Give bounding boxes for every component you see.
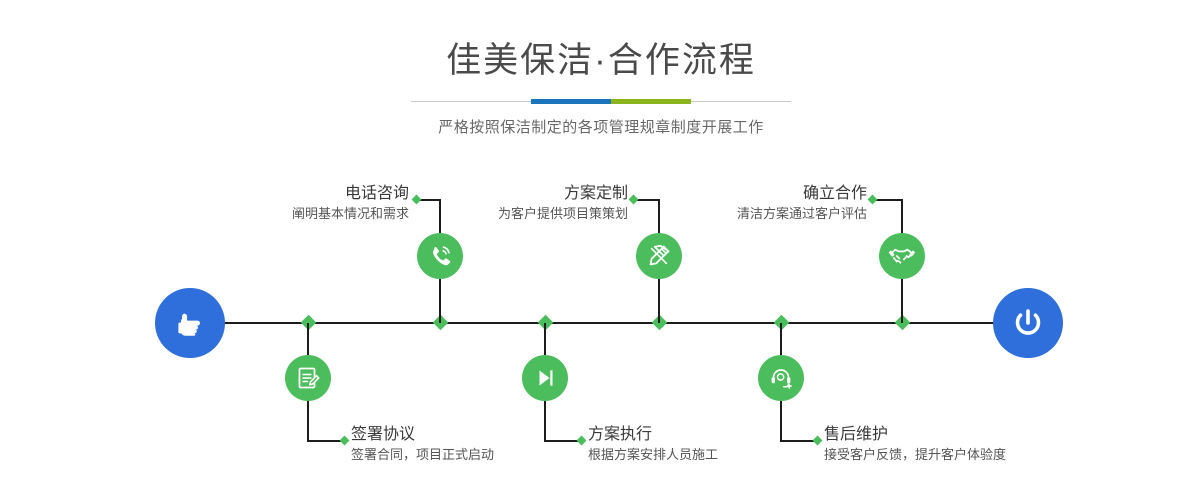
step-label-5: 售后维护 接受客户反馈，提升客户体验度 (824, 424, 1114, 465)
connector-vline-2-upper (307, 323, 309, 355)
connector-vline-6-upper (901, 199, 903, 233)
page-title: 佳美保洁·合作流程 (0, 0, 1202, 82)
connector-dot-6 (868, 195, 878, 205)
pencil-ruler-icon (645, 242, 673, 270)
step-desc-6: 清洁方案通过客户评估 (600, 204, 867, 224)
handshake-icon (888, 242, 916, 270)
timeline: 电话咨询 阐明基本情况和需求 签署协议 签署合同，项目正式启动 (0, 155, 1202, 502)
step-title-3: 方案定制 (356, 183, 628, 204)
connector-vline-5-upper (780, 323, 782, 355)
step-title-6: 确立合作 (600, 183, 867, 204)
connector-vline-5-lower (780, 401, 782, 441)
step-node-4[interactable] (522, 355, 568, 401)
step-label-4: 方案执行 根据方案安排人员施工 (588, 424, 848, 465)
step-node-2[interactable] (285, 355, 331, 401)
step-node-3[interactable] (636, 233, 682, 279)
timeline-end-endpoint (993, 288, 1063, 358)
document-edit-icon (295, 365, 321, 391)
step-desc-4: 根据方案安排人员施工 (588, 445, 848, 465)
step-node-1[interactable] (417, 233, 463, 279)
divider-green-segment (611, 99, 691, 104)
step-node-6[interactable] (879, 233, 925, 279)
pointing-hand-icon (171, 304, 209, 342)
connector-vline-1-lower (439, 277, 441, 323)
timeline-start-endpoint (155, 288, 225, 358)
step-desc-3: 为客户提供项目策策划 (356, 204, 628, 224)
process-flow-infographic: 佳美保洁·合作流程 严格按照保洁制定的各项管理规章制度开展工作 (0, 0, 1202, 502)
divider-blue-segment (531, 99, 611, 104)
headset-support-icon (768, 365, 794, 391)
phone-call-icon (426, 242, 454, 270)
step-node-5[interactable] (758, 355, 804, 401)
step-label-3: 方案定制 为客户提供项目策策划 (356, 183, 628, 224)
connector-vline-4-upper (544, 323, 546, 355)
page-subtitle: 严格按照保洁制定的各项管理规章制度开展工作 (0, 116, 1202, 137)
header: 佳美保洁·合作流程 严格按照保洁制定的各项管理规章制度开展工作 (0, 0, 1202, 137)
connector-vline-2-lower (307, 401, 309, 441)
step-desc-5: 接受客户反馈，提升客户体验度 (824, 445, 1114, 465)
power-icon (1008, 303, 1048, 343)
play-execute-icon (532, 365, 558, 391)
step-desc-2: 签署合同，项目正式启动 (351, 445, 611, 465)
connector-vline-4-lower (544, 401, 546, 441)
title-divider (411, 98, 791, 105)
step-label-2: 签署协议 签署合同，项目正式启动 (351, 424, 611, 465)
connector-vline-3-lower (658, 277, 660, 323)
connector-vline-6-lower (901, 277, 903, 323)
step-title-5: 售后维护 (824, 424, 1114, 445)
connector-dot-2 (340, 436, 350, 446)
step-label-6: 确立合作 清洁方案通过客户评估 (600, 183, 867, 224)
